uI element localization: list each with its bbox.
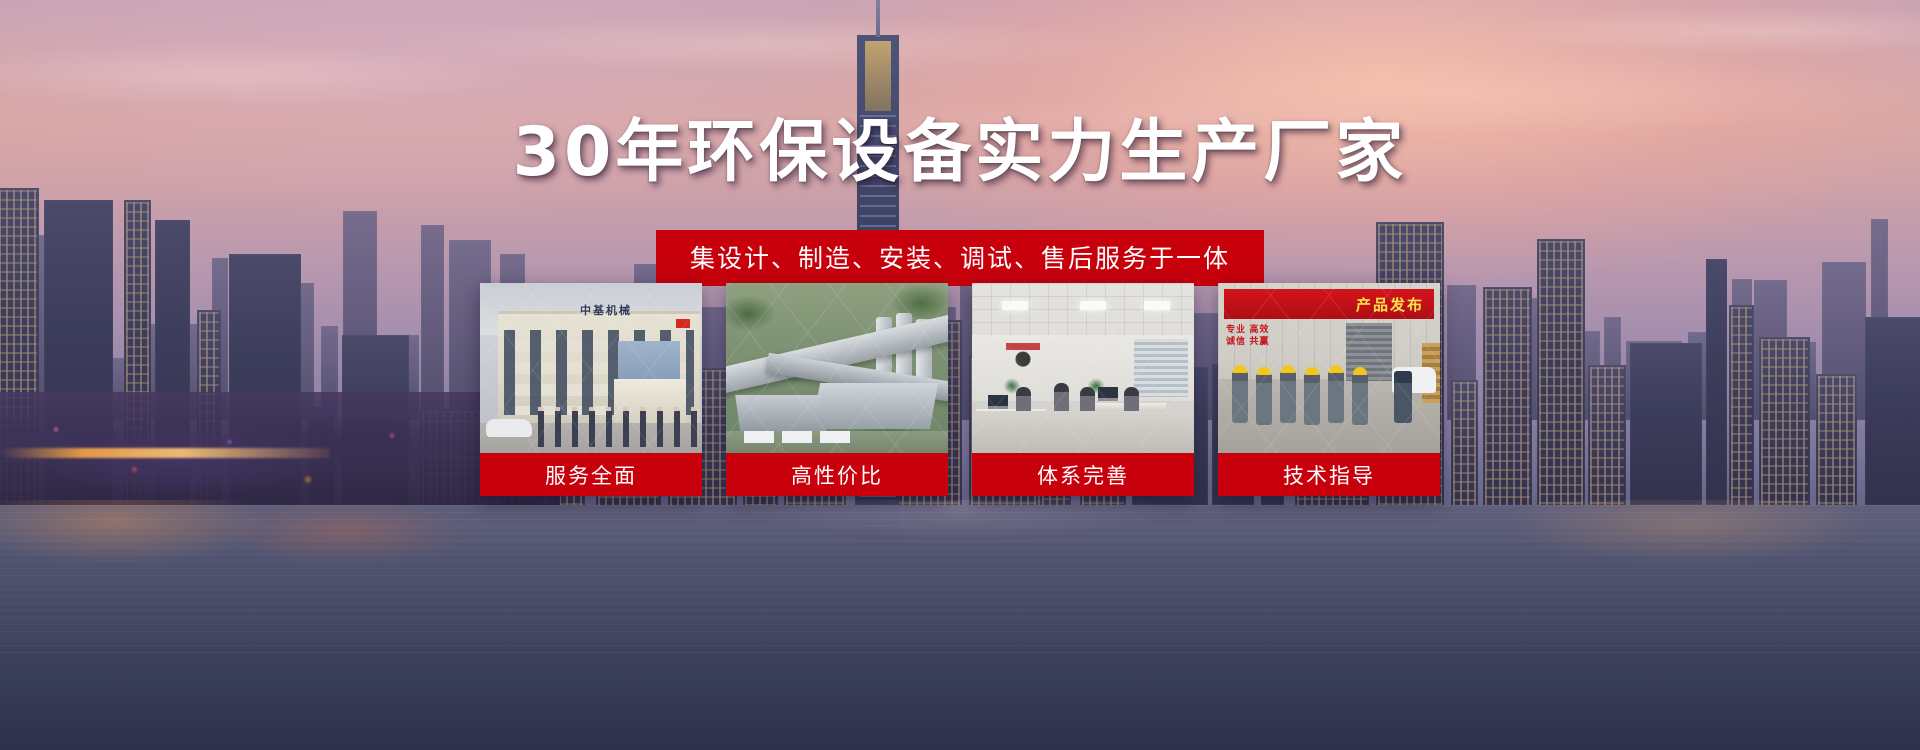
card-photo-factory-workers: 产品发布 专业 高效诚信 共赢 — [1218, 283, 1440, 453]
water-reflections — [0, 500, 1920, 620]
feature-card-list: 中基机械 服务全面 — [480, 283, 1440, 496]
card-photo-office-workers — [972, 283, 1194, 453]
card-photo-industrial-plant — [726, 283, 948, 453]
feature-card-label: 服务全面 — [480, 453, 702, 496]
banner-subtitle: 集设计、制造、安装、调试、售后服务于一体 — [656, 230, 1264, 286]
feature-card[interactable]: 高性价比 — [726, 283, 948, 496]
hero-banner: 30年环保设备实力生产厂家 集设计、制造、安装、调试、售后服务于一体 中基机械 … — [0, 0, 1920, 750]
lit-bridge — [0, 448, 330, 458]
banner-headline: 30年环保设备实力生产厂家 — [0, 96, 1920, 195]
feature-card-label: 高性价比 — [726, 453, 948, 496]
factory-banner: 产品发布 — [1224, 289, 1434, 319]
card-photo-company-building: 中基机械 — [480, 283, 702, 453]
feature-card-label: 技术指导 — [1218, 453, 1440, 496]
building-sign-text: 中基机械 — [554, 301, 658, 318]
factory-slogan: 专业 高效诚信 共赢 — [1226, 323, 1322, 349]
banner-subtitle-wrap: 集设计、制造、安装、调试、售后服务于一体 — [0, 230, 1920, 286]
feature-card[interactable]: 产品发布 专业 高效诚信 共赢 技术指导 — [1218, 283, 1440, 496]
feature-card[interactable]: 中基机械 服务全面 — [480, 283, 702, 496]
factory-banner-text: 产品发布 — [1356, 294, 1424, 315]
flag-icon — [676, 319, 690, 328]
feature-card[interactable]: 体系完善 — [972, 283, 1194, 496]
feature-card-label: 体系完善 — [972, 453, 1194, 496]
